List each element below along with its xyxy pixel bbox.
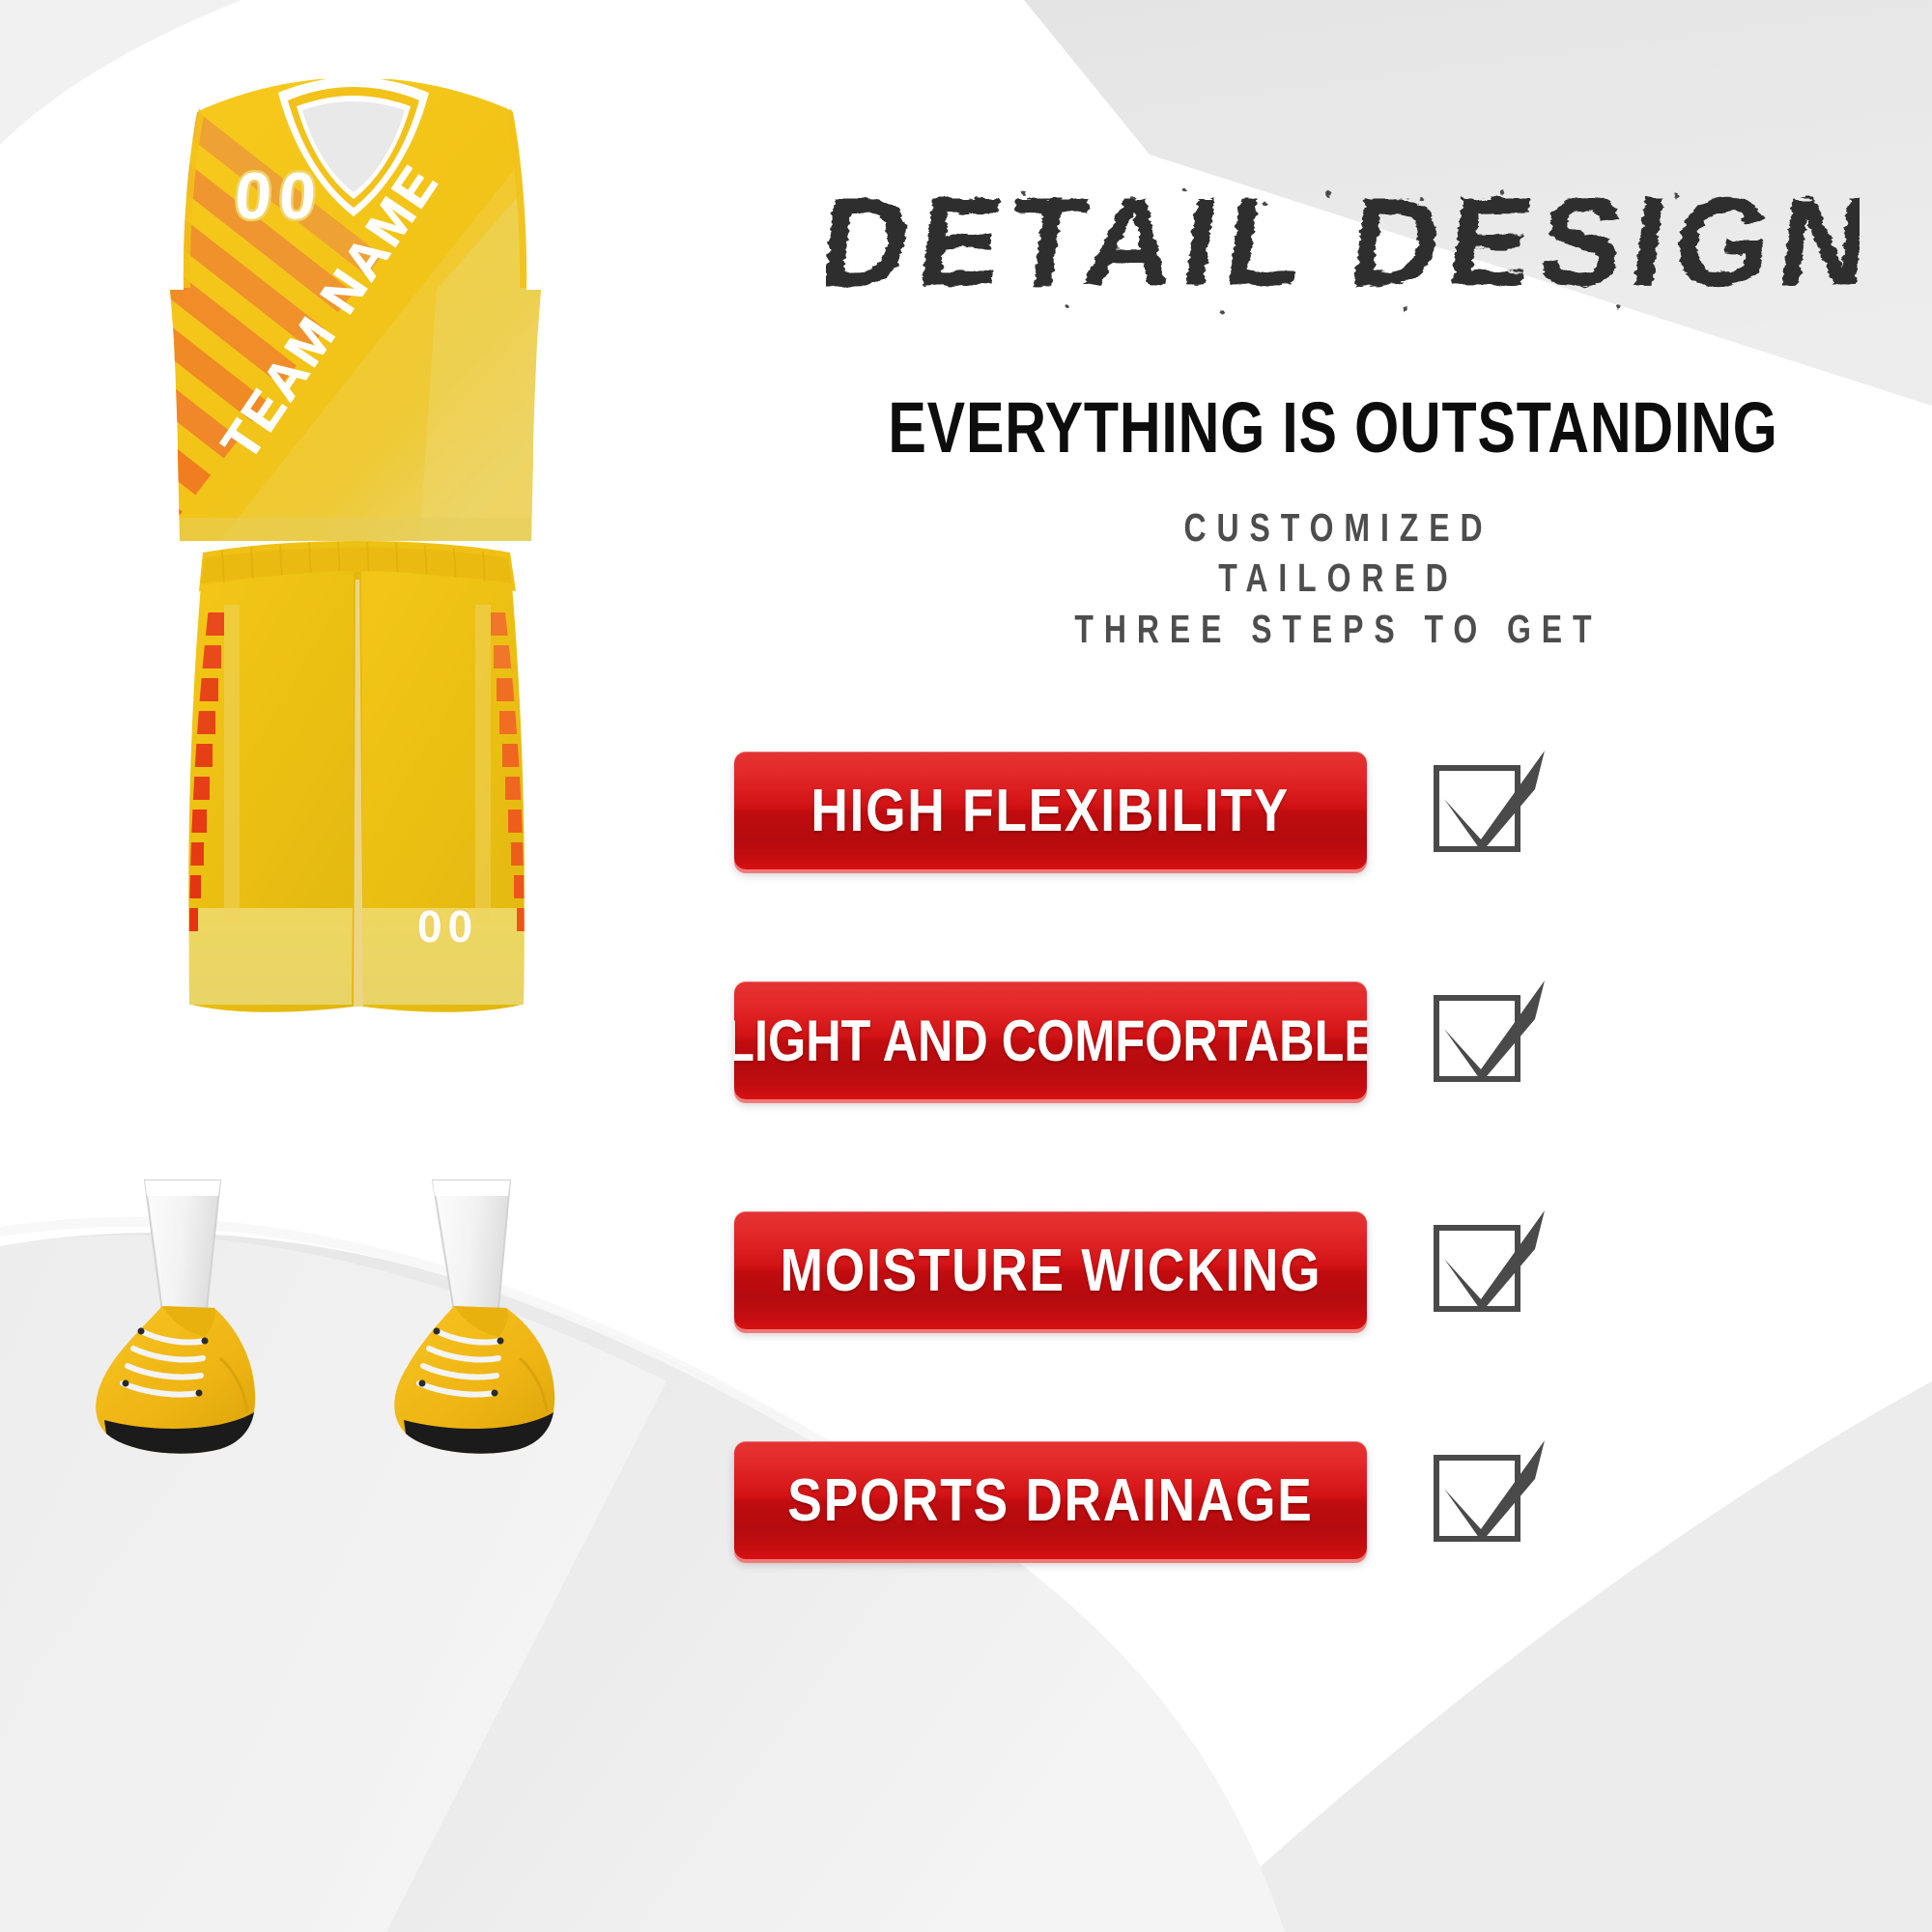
feature-label: LIGHT AND COMFORTABLE <box>734 1008 1367 1074</box>
checkbox-checked-icon-svg <box>1421 743 1556 878</box>
checkbox-checked-icon-svg <box>1421 1203 1556 1338</box>
feature-banner-high-flexibility[interactable]: HIGH FLEXIBILITY <box>734 752 1367 869</box>
shorts-number: 00 <box>417 901 478 952</box>
page-title-brush-svg: DETAIL DESIGN <box>826 169 1860 324</box>
feature-label: SPORTS DRAINAGE <box>787 1466 1313 1535</box>
socks-and-shoes <box>96 1180 554 1454</box>
feature-label: HIGH FLEXIBILITY <box>811 777 1291 845</box>
subline-tailored: TAILORED <box>866 553 1800 603</box>
page-title-text: DETAIL DESIGN <box>826 172 1860 313</box>
subline-customized: CUSTOMIZED <box>866 502 1800 553</box>
checkbox-checked-icon-svg <box>1421 973 1556 1108</box>
checkbox-checked-icon[interactable] <box>1421 743 1556 878</box>
headline: EVERYTHING IS OUTSTANDING <box>854 386 1812 469</box>
svg-text:00: 00 <box>233 159 327 233</box>
feature-row: HIGH FLEXIBILITY <box>734 749 1932 872</box>
page-title: DETAIL DESIGN <box>826 169 1860 324</box>
subline-three-steps: THREE STEPS TO GET <box>866 604 1800 654</box>
feature-banner-moisture-wicking[interactable]: MOISTURE WICKING <box>734 1211 1367 1329</box>
checkbox-checked-icon-svg <box>1421 1433 1556 1568</box>
feature-row: SPORTS DRAINAGE <box>734 1438 1932 1562</box>
shorts-graphic: 00 <box>171 541 551 1024</box>
feature-label: MOISTURE WICKING <box>780 1236 1321 1305</box>
checkbox-checked-icon[interactable] <box>1421 1433 1556 1568</box>
feature-banner-sports-drainage[interactable]: SPORTS DRAINAGE <box>734 1441 1367 1559</box>
checkbox-checked-icon[interactable] <box>1421 1203 1556 1338</box>
feature-list: HIGH FLEXIBILITY LIGHT AND COMFORTABLE <box>734 749 1932 1562</box>
poster-canvas: 00 TEAM NAME <box>0 0 1932 1932</box>
feature-row: MOISTURE WICKING <box>734 1208 1932 1332</box>
checkbox-checked-icon[interactable] <box>1421 973 1556 1108</box>
subheadline-group: CUSTOMIZED TAILORED THREE STEPS TO GET <box>734 502 1932 654</box>
feature-row: LIGHT AND COMFORTABLE <box>734 979 1932 1102</box>
product-mockup: 00 TEAM NAME <box>0 0 715 1932</box>
svg-text:00: 00 <box>417 901 478 952</box>
uniform-illustration-svg: 00 TEAM NAME <box>0 0 715 1932</box>
jersey-number: 00 <box>233 159 327 233</box>
shoe-left <box>96 1306 255 1454</box>
shoe-right <box>394 1306 554 1454</box>
feature-banner-light-and-comfortable[interactable]: LIGHT AND COMFORTABLE <box>734 981 1367 1099</box>
content-column: DETAIL DESIGN EVERYTHING IS OUTSTANDING … <box>734 0 1932 1932</box>
